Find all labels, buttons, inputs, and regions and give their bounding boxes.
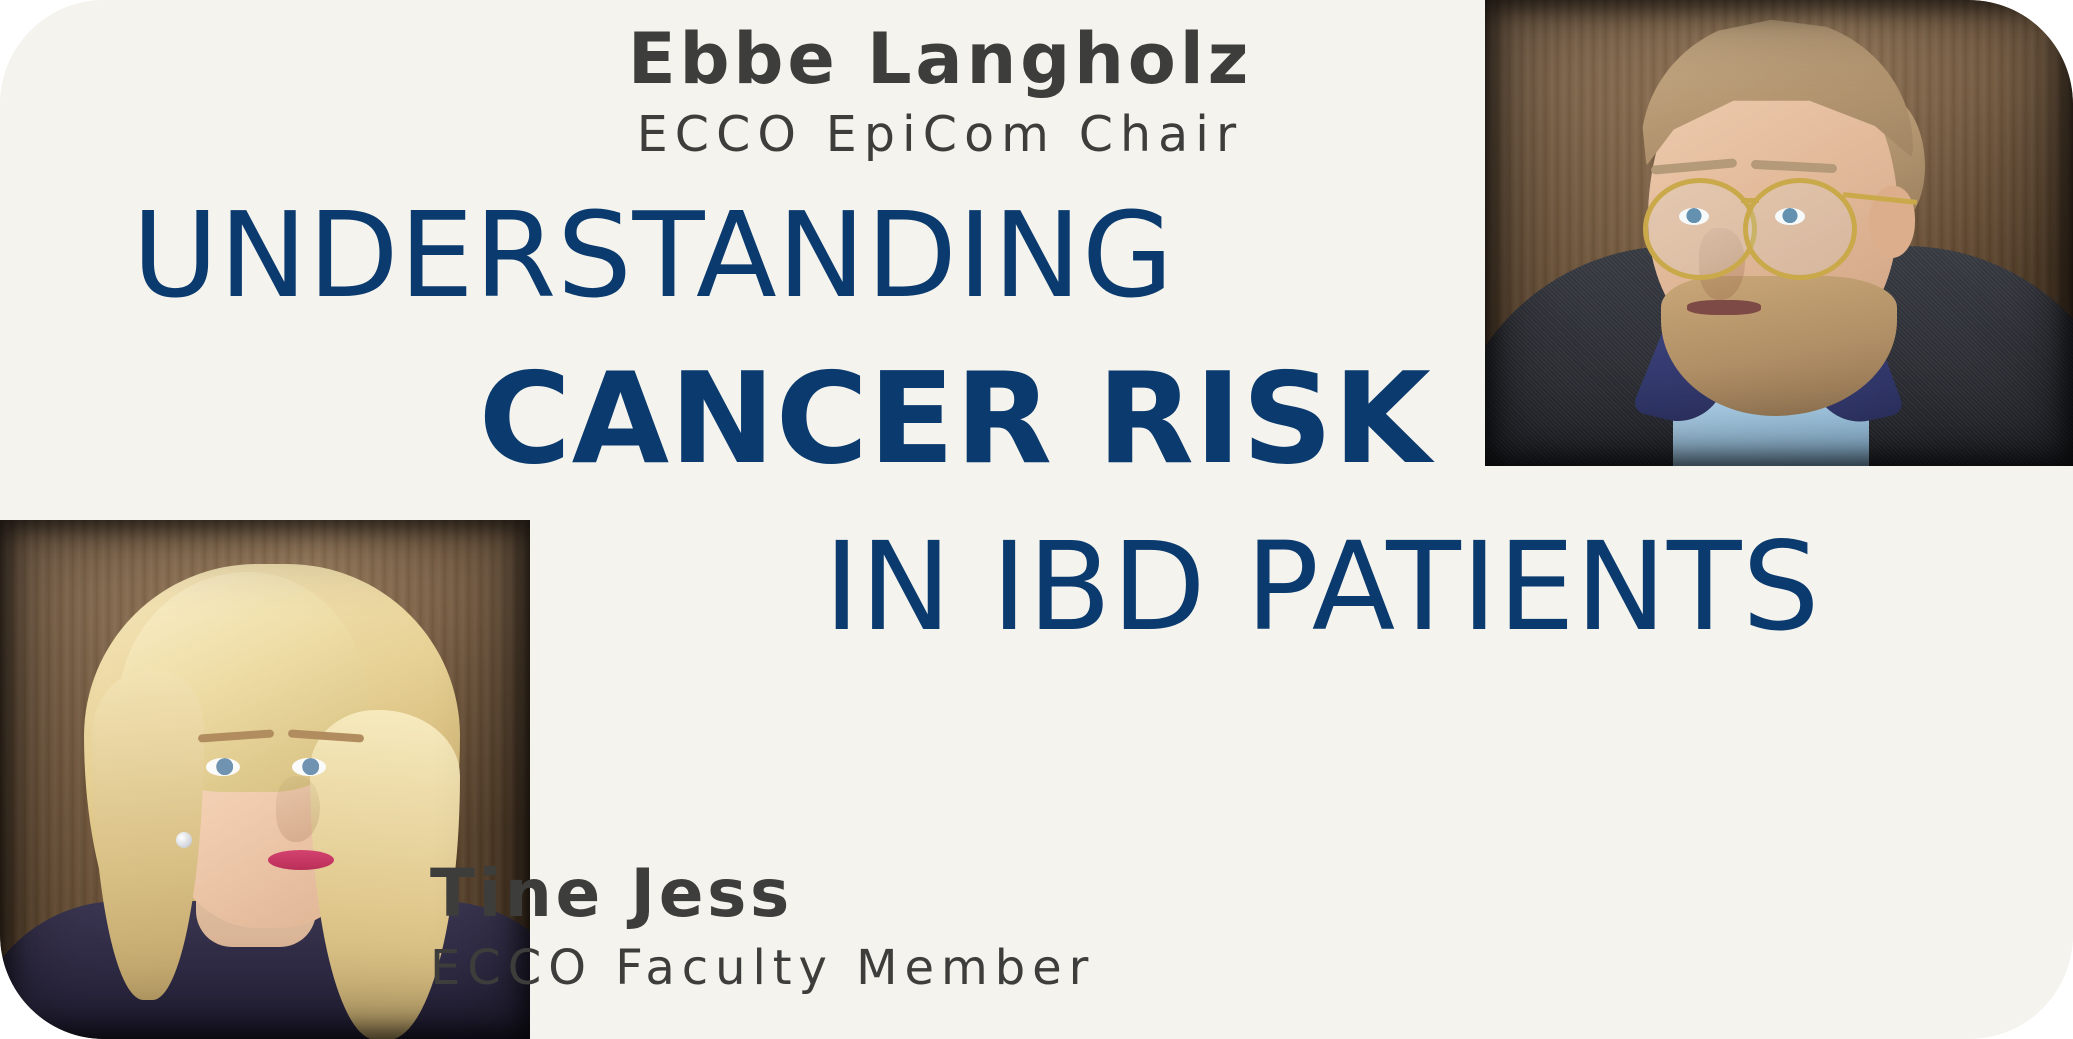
- headline-line-2: CANCER RISK: [60, 356, 1820, 482]
- ebbe-langholz-caption: Ebbe Langholz ECCO EpiCom Chair: [430, 24, 1450, 161]
- tine-jess-caption: Tine Jess ECCO Faculty Member: [300, 860, 1240, 994]
- headline-line-3: IN IBD PATIENTS: [60, 526, 1820, 648]
- tine-jess-name: Tine Jess: [300, 860, 1240, 927]
- ebbe-langholz-role: ECCO EpiCom Chair: [430, 109, 1450, 160]
- page-title: UNDERSTANDING CANCER RISK IN IBD PATIENT…: [60, 196, 1820, 648]
- ebbe-langholz-name: Ebbe Langholz: [430, 24, 1450, 95]
- eye-left: [206, 758, 240, 776]
- video-title-card: Ebbe Langholz ECCO EpiCom Chair UNDERSTA…: [0, 0, 2073, 1039]
- eye-right: [292, 758, 326, 776]
- headline-line-1: UNDERSTANDING: [60, 196, 1820, 314]
- pearl-earring: [176, 832, 192, 848]
- tine-jess-role: ECCO Faculty Member: [300, 943, 1240, 993]
